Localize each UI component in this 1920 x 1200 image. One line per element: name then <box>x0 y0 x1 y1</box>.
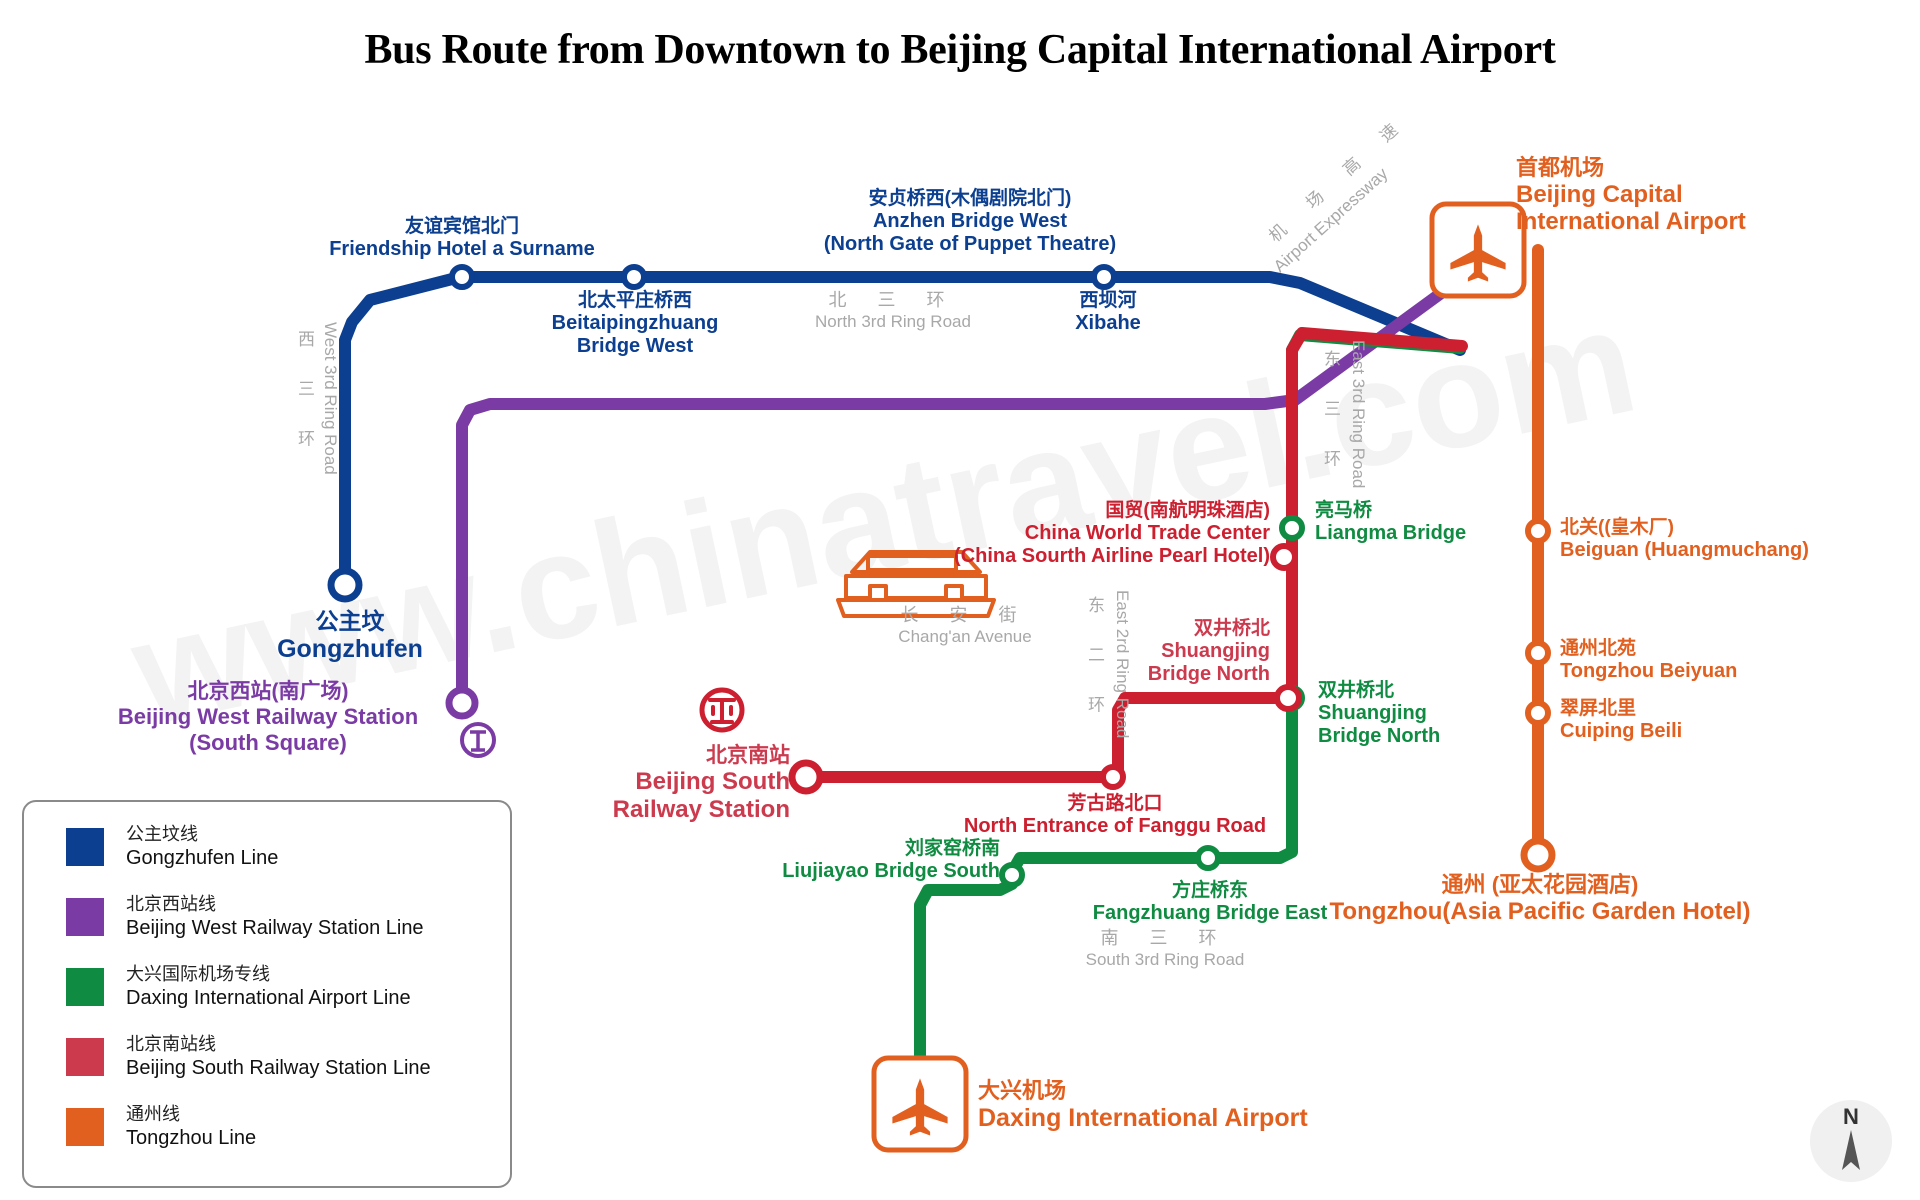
station-label-liujiayao-bridge-south[interactable]: 刘家窑桥南 Liujiayao Bridge South <box>700 838 1000 883</box>
legend-swatch-beijing-west <box>66 898 104 936</box>
legend-item-beijing-west-line[interactable]: 北京西站线 Beijing West Railway Station Line <box>66 894 424 940</box>
station-dot-beijing-south-railway[interactable] <box>792 763 820 791</box>
station-dot-liujiayao-bridge-south[interactable] <box>1002 865 1022 885</box>
legend-swatch-beijing-south <box>66 1038 104 1076</box>
station-label-anzhen-bridge-west[interactable]: 安贞桥西(木偶剧院北门) Anzhen Bridge West (North G… <box>760 188 1180 256</box>
station-dot-liangma-bridge[interactable] <box>1282 518 1302 538</box>
station-dot-fangzhuang-bridge-east[interactable] <box>1198 848 1218 868</box>
station-dot-tongzhou-beiyuan[interactable] <box>1528 643 1548 663</box>
legend-swatch-gongzhufen <box>66 828 104 866</box>
station-dot-shuangjing-red[interactable] <box>1277 687 1299 709</box>
road-label-east-2rd-ring-cn: 东 二 环 <box>1082 596 1107 726</box>
station-dot-cuiping-beili[interactable] <box>1528 703 1548 723</box>
station-dot-beitaipingzhuang[interactable] <box>624 267 644 287</box>
road-label-changan-avenue: 长 安 街 Chang'an Avenue <box>850 605 1080 647</box>
station-dot-tongzhou-terminus[interactable] <box>1524 841 1552 869</box>
station-label-china-world-trade[interactable]: 国贸(南航明珠酒店) China World Trade Center (Chi… <box>770 500 1270 568</box>
station-label-cuiping-beili[interactable]: 翠屏北里 Cuiping Beili <box>1560 698 1682 743</box>
transit-map-canvas: Bus Route from Downtown to Beijing Capit… <box>0 0 1920 1200</box>
road-label-west-3rd-ring-cn: 西 三 环 <box>292 330 317 460</box>
station-label-gongzhufen[interactable]: 公主坟 Gongzhufen <box>235 608 465 664</box>
capital-airport-icon <box>1432 204 1524 296</box>
subway-icon <box>462 724 494 756</box>
station-dot-fanggu-road-north[interactable] <box>1103 767 1123 787</box>
station-label-beijing-west-railway[interactable]: 北京西站(南广场) Beijing West Railway Station (… <box>78 680 458 755</box>
daxing-airport-icon <box>874 1058 966 1150</box>
station-label-beiguan[interactable]: 北关((皇木厂) Beiguan (Huangmuchang) <box>1560 517 1809 562</box>
capital-airport-label[interactable]: 首都机场 Beijing Capital International Airpo… <box>1516 155 1746 236</box>
legend-item-gongzhufen-line[interactable]: 公主坟线 Gongzhufen Line <box>66 824 278 870</box>
station-dot-friendship-hotel[interactable] <box>452 267 472 287</box>
legend-swatch-tongzhou <box>66 1108 104 1146</box>
road-label-north-3rd-ring: 北 三 环 North 3rd Ring Road <box>768 290 1018 332</box>
legend-item-daxing-line[interactable]: 大兴国际机场专线 Daxing International Airport Li… <box>66 964 411 1010</box>
road-label-east-2rd-ring-en: East 2rd Ring Road <box>1112 590 1132 738</box>
station-dot-china-world-trade[interactable] <box>1273 546 1295 568</box>
road-label-east-3rd-ring-en: East 3rd Ring Road <box>1348 340 1368 488</box>
legend-panel: 公主坟线 Gongzhufen Line 北京西站线 Beijing West … <box>22 800 512 1188</box>
station-label-beijing-south-railway[interactable]: 北京南站 Beijing South Railway Station <box>540 744 790 824</box>
station-dot-beiguan[interactable] <box>1528 521 1548 541</box>
station-label-xibahe[interactable]: 西坝河 Xibahe <box>1028 290 1188 335</box>
china-railways-icon <box>702 690 742 730</box>
legend-swatch-daxing <box>66 968 104 1006</box>
compass-needle-icon <box>1810 1100 1892 1182</box>
station-label-liangma-bridge[interactable]: 亮马桥 Liangma Bridge <box>1315 500 1466 545</box>
station-label-fanggu-road-north[interactable]: 芳古路北口 North Entrance of Fanggu Road <box>960 793 1270 838</box>
station-dot-gongzhufen[interactable] <box>331 571 359 599</box>
station-label-shuangjing-green[interactable]: 双井桥北 Shuangjing Bridge North <box>1318 680 1440 748</box>
legend-item-beijing-south-line[interactable]: 北京南站线 Beijing South Railway Station Line <box>66 1034 431 1080</box>
compass-rose: N <box>1810 1100 1892 1182</box>
legend-item-tongzhou-line[interactable]: 通州线 Tongzhou Line <box>66 1104 256 1150</box>
station-label-tongzhou-beiyuan[interactable]: 通州北苑 Tongzhou Beiyuan <box>1560 638 1737 683</box>
station-label-beitaipingzhuang[interactable]: 北太平庄桥西 Beitaipingzhuang Bridge West <box>500 290 770 358</box>
road-label-west-3rd-ring-en: West 3rd Ring Road <box>320 322 340 475</box>
station-label-tongzhou-terminus[interactable]: 通州 (亚太花园酒店) Tongzhou(Asia Pacific Garden… <box>1300 872 1780 925</box>
daxing-airport-label[interactable]: 大兴机场 Daxing International Airport <box>978 1078 1308 1133</box>
station-label-friendship-hotel[interactable]: 友谊宾馆北门 Friendship Hotel a Surname <box>282 216 642 261</box>
road-label-south-3rd-ring: 南 三 环 South 3rd Ring Road <box>1040 928 1290 970</box>
station-dot-anzhen-bridge-west[interactable] <box>1094 267 1114 287</box>
road-label-east-3rd-ring-cn: 东 三 环 <box>1318 350 1343 480</box>
